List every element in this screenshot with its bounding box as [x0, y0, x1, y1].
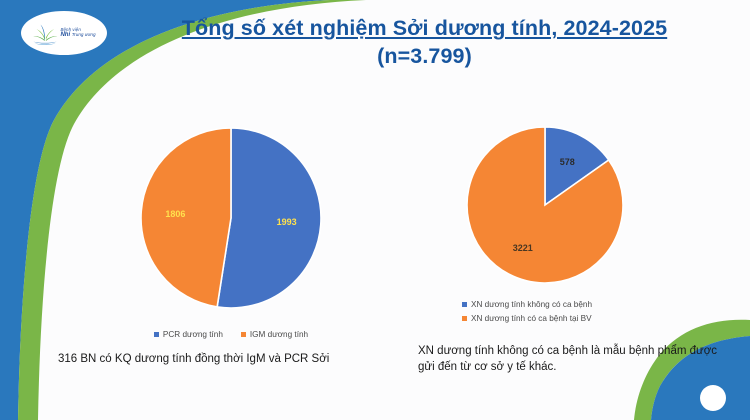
leaf-plant-icon [32, 20, 58, 46]
slide-title: Tổng số xét nghiệm Sởi dương tính, 2024-… [112, 14, 737, 71]
caption-left: 316 BN có KQ dương tính đồng thời IgM và… [58, 352, 408, 368]
legend-item-no-case[interactable]: XN dương tính không có ca bệnh [462, 300, 592, 309]
legend-swatch-blue-icon [462, 302, 467, 307]
hospital-logo: Bệnh viện Nhi Trung ương [20, 10, 108, 56]
pie-right-svg [420, 110, 720, 295]
logo-line-2: Nhi Trung ương [60, 32, 95, 38]
pie-left-svg [96, 110, 366, 310]
legend-right: XN dương tính không có ca bệnh XN dương … [462, 300, 592, 323]
caption-right: XN dương tính không có ca bệnh là mẫu bệ… [418, 344, 736, 375]
slide-root: Bệnh viện Nhi Trung ương Tổng số xét ngh… [0, 0, 750, 420]
legend-swatch-orange-icon [462, 316, 467, 321]
pie-slice[interactable] [217, 128, 321, 308]
logo-sub: Trung ương [72, 32, 96, 37]
pie-slice[interactable] [141, 128, 231, 307]
legend-label-with-case: XN dương tính có ca bệnh tại BV [471, 314, 592, 323]
legend-swatch-blue-icon [154, 332, 159, 337]
legend-swatch-orange-icon [241, 332, 246, 337]
legend-label-igm: IGM dương tính [250, 330, 308, 339]
legend-label-pcr: PCR dương tính [163, 330, 223, 339]
legend-label-no-case: XN dương tính không có ca bệnh [471, 300, 592, 309]
title-line-2: (n=3.799) [112, 42, 737, 70]
title-line-1: Tổng số xét nghiệm Sởi dương tính, 2024-… [112, 14, 737, 42]
legend-item-igm[interactable]: IGM dương tính [241, 330, 308, 339]
legend-left: PCR dương tính IGM dương tính [96, 330, 366, 339]
logo-brand: Nhi [60, 32, 70, 38]
legend-item-with-case[interactable]: XN dương tính có ca bệnh tại BV [462, 314, 592, 323]
legend-item-pcr[interactable]: PCR dương tính [154, 330, 223, 339]
pie-chart-left: 1993 1806 [96, 110, 366, 350]
